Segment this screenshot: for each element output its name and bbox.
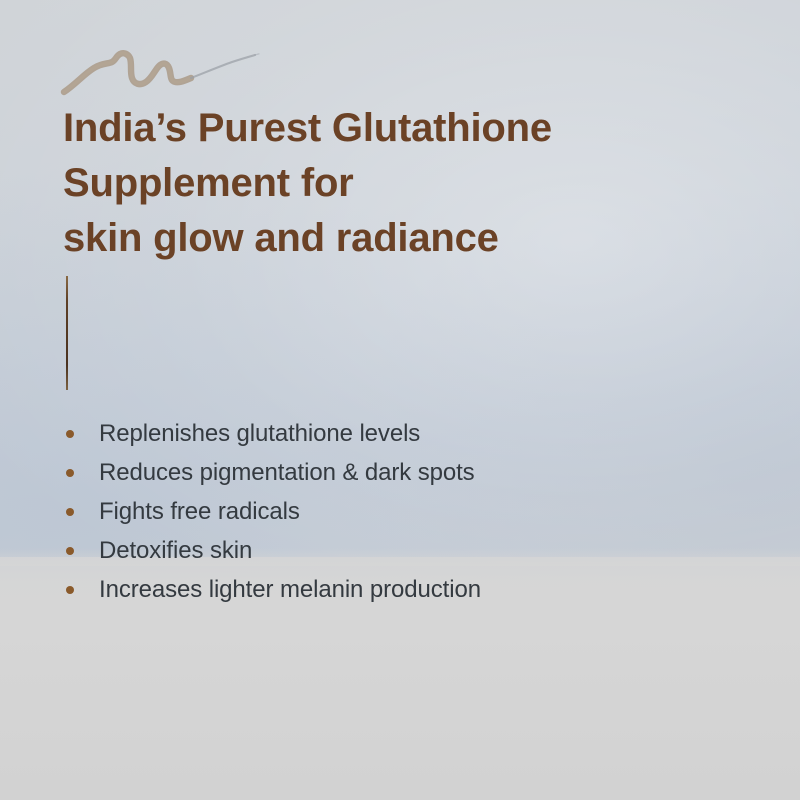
headline-line-1: India’s Purest Glutathione [63, 101, 683, 156]
bullet-dot-icon [66, 547, 74, 555]
benefit-label: Increases lighter melanin production [99, 570, 481, 609]
promo-creative-canvas: India’s Purest Glutathione Supplement fo… [0, 0, 800, 800]
list-item: Replenishes glutathione levels [62, 414, 481, 453]
bullet-dot-icon [66, 508, 74, 516]
list-item: Fights free radicals [62, 492, 481, 531]
benefit-label: Fights free radicals [99, 492, 300, 531]
bullet-dot-icon [66, 430, 74, 438]
benefit-label: Detoxifies skin [99, 531, 252, 570]
headline: India’s Purest Glutathione Supplement fo… [63, 101, 683, 266]
headline-line-3: skin glow and radiance [63, 211, 683, 266]
vertical-accent-rule [66, 276, 68, 390]
list-item: Increases lighter melanin production [62, 570, 481, 609]
benefit-label: Reduces pigmentation & dark spots [99, 453, 475, 492]
benefit-label: Replenishes glutathione levels [99, 414, 420, 453]
bullet-dot-icon [66, 586, 74, 594]
list-item: Reduces pigmentation & dark spots [62, 453, 481, 492]
headline-line-2: Supplement for [63, 156, 683, 211]
benefits-list: Replenishes glutathione levels Reduces p… [62, 414, 481, 609]
bullet-dot-icon [66, 469, 74, 477]
pencil-squiggle-icon [58, 40, 268, 98]
list-item: Detoxifies skin [62, 531, 481, 570]
